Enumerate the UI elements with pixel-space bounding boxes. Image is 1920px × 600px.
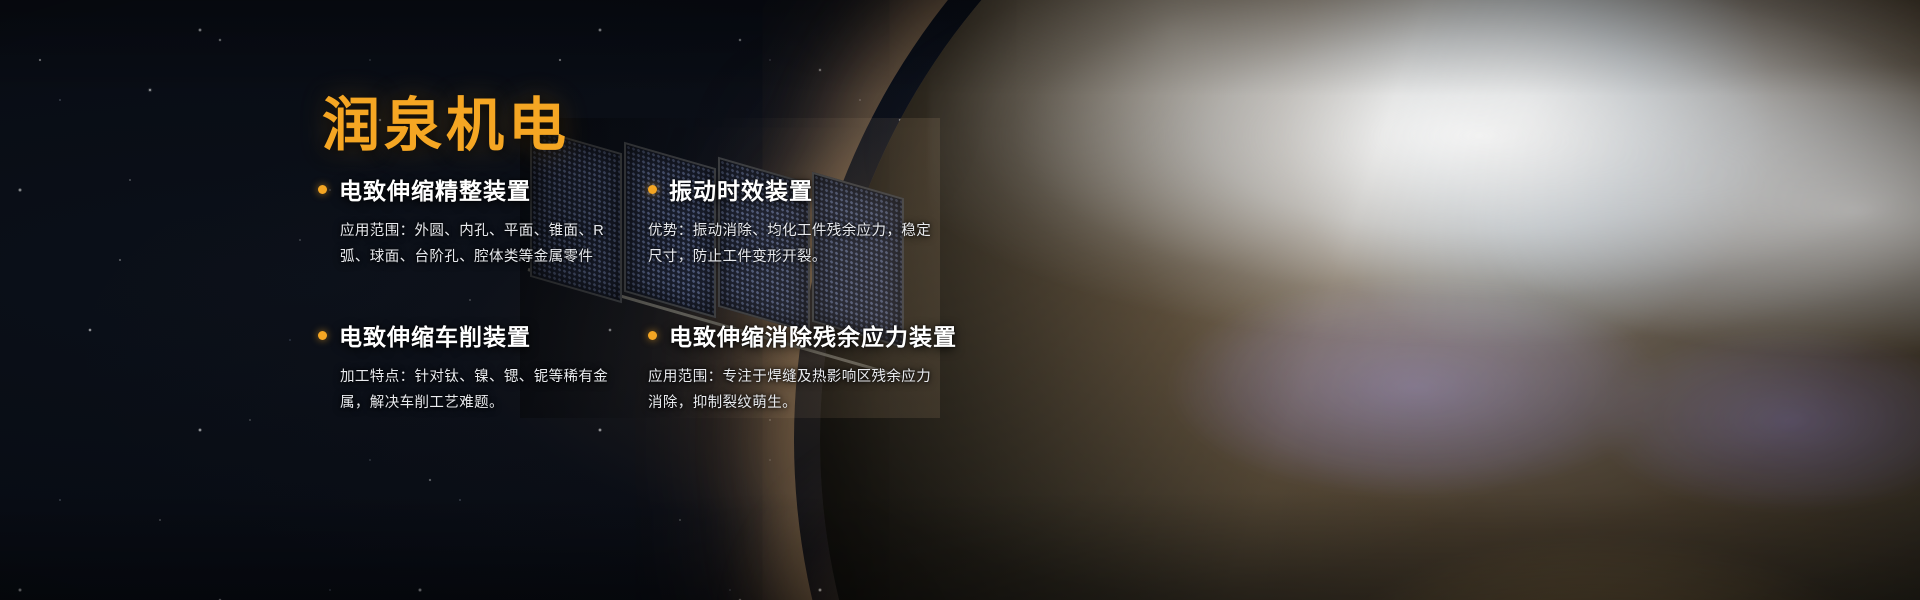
feature-description: 加工特点：针对钛、镍、锶、铌等稀有金属，解决车削工艺难题。 xyxy=(340,364,632,416)
feature-heading: 电致伸缩消除残余应力装置 xyxy=(648,318,988,352)
feature-title: 电致伸缩消除残余应力装置 xyxy=(669,318,957,352)
feature-heading: 电致伸缩车削装置 xyxy=(318,318,638,352)
feature-item-4[interactable]: 电致伸缩消除残余应力装置 应用范围：专注于焊缝及热影响区残余应力消除，抑制裂纹萌… xyxy=(648,318,988,416)
feature-heading: 振动时效装置 xyxy=(648,172,988,206)
feature-grid: 电致伸缩精整装置 应用范围：外圆、内孔、平面、锥面、R弧、球面、台阶孔、腔体类等… xyxy=(318,172,978,416)
feature-description: 应用范围：专注于焊缝及热影响区残余应力消除，抑制裂纹萌生。 xyxy=(648,364,940,416)
feature-item-3[interactable]: 电致伸缩车削装置 加工特点：针对钛、镍、锶、铌等稀有金属，解决车削工艺难题。 xyxy=(318,318,638,416)
feature-item-2[interactable]: 振动时效装置 优势：振动消除、均化工件残余应力，稳定尺寸，防止工件变形开裂。 xyxy=(648,172,988,270)
feature-description: 应用范围：外圆、内孔、平面、锥面、R弧、球面、台阶孔、腔体类等金属零件 xyxy=(340,218,632,270)
brand-title: 润泉机电 xyxy=(322,78,570,162)
feature-item-1[interactable]: 电致伸缩精整装置 应用范围：外圆、内孔、平面、锥面、R弧、球面、台阶孔、腔体类等… xyxy=(318,172,638,270)
bullet-dot-icon xyxy=(318,185,327,194)
banner-content: 润泉机电 电致伸缩精整装置 应用范围：外圆、内孔、平面、锥面、R弧、球面、台阶孔… xyxy=(0,0,1920,600)
feature-title: 振动时效装置 xyxy=(669,172,813,206)
bullet-dot-icon xyxy=(648,331,657,340)
hero-banner: 润泉机电 电致伸缩精整装置 应用范围：外圆、内孔、平面、锥面、R弧、球面、台阶孔… xyxy=(0,0,1920,600)
feature-title: 电致伸缩车削装置 xyxy=(339,318,531,352)
feature-description: 优势：振动消除、均化工件残余应力，稳定尺寸，防止工件变形开裂。 xyxy=(648,218,940,270)
feature-title: 电致伸缩精整装置 xyxy=(339,172,531,206)
bullet-dot-icon xyxy=(648,185,657,194)
bullet-dot-icon xyxy=(318,331,327,340)
feature-heading: 电致伸缩精整装置 xyxy=(318,172,638,206)
